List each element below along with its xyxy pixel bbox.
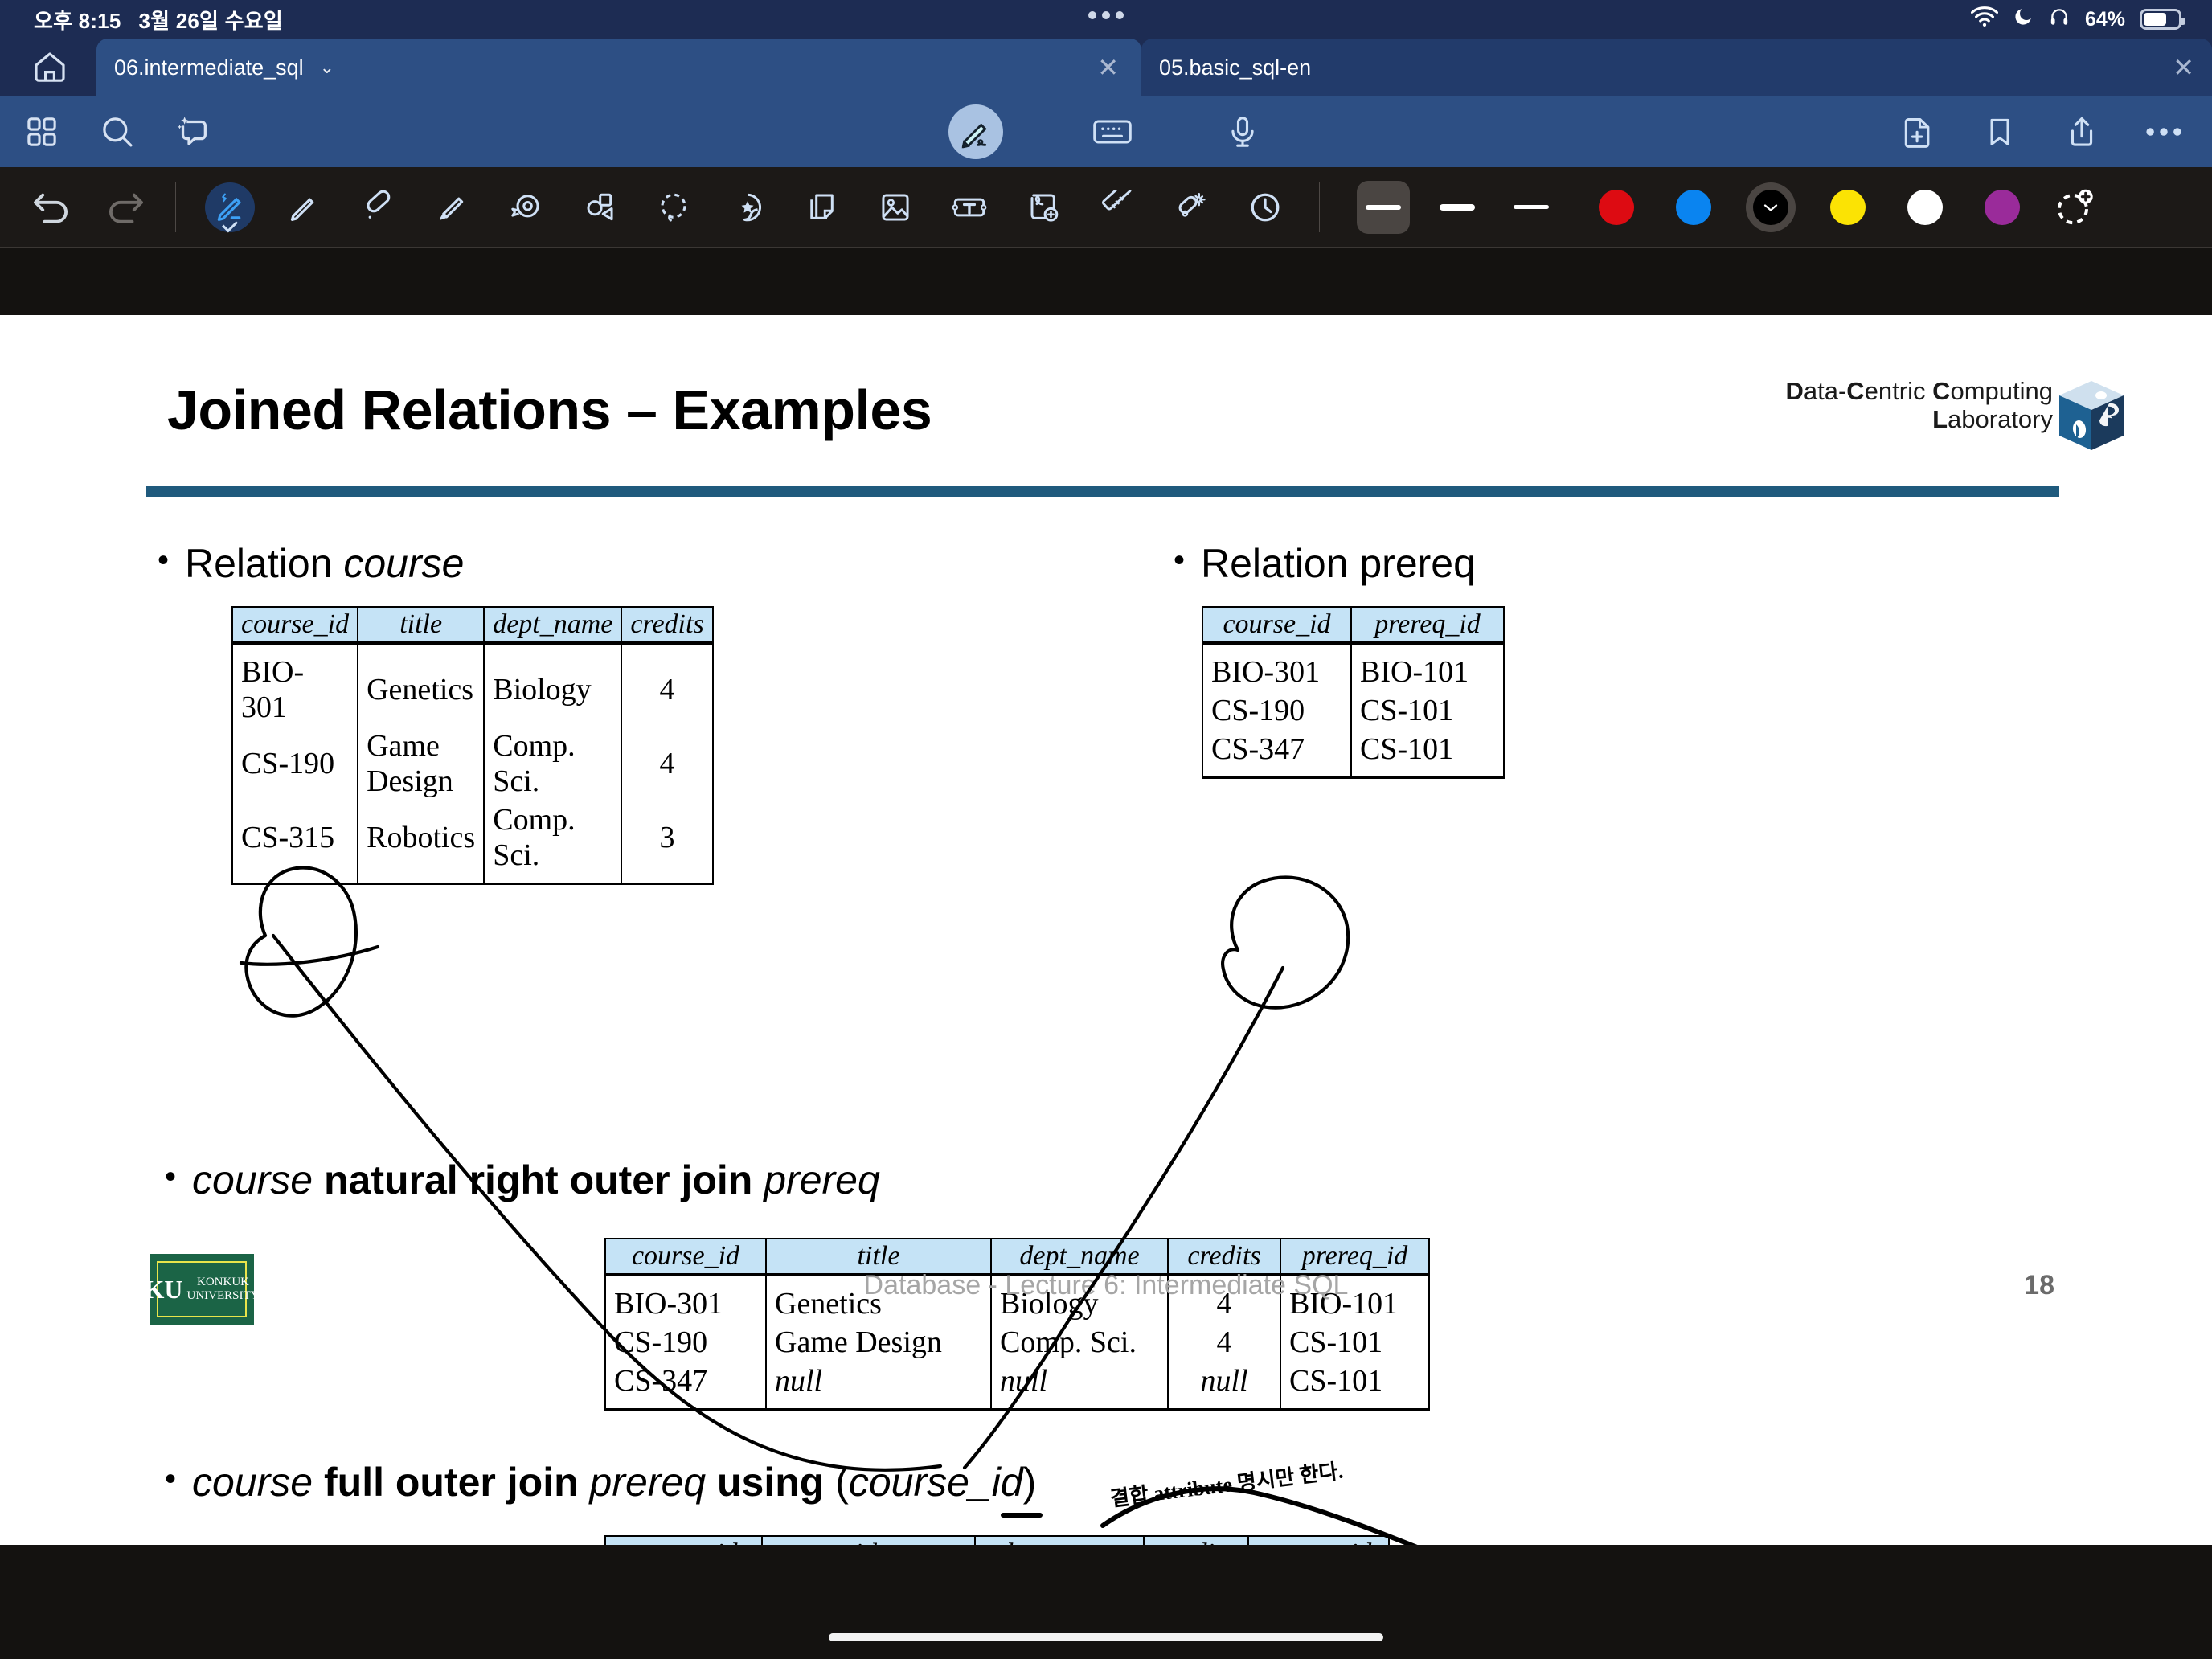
- history-group: [31, 186, 146, 228]
- table-header-row: course_id title dept_name credits: [232, 607, 713, 643]
- bullet-full-outer-join: • course full outer join prereq using (c…: [165, 1459, 1036, 1505]
- tape-icon[interactable]: [501, 182, 551, 232]
- tool-group: [205, 182, 1290, 232]
- color-swatch: [1599, 190, 1634, 225]
- handwritten-annotation: 결합 attribute 명시만 한다.: [1108, 1454, 1345, 1512]
- handle-dot: [1088, 11, 1096, 19]
- color-blue-button[interactable]: [1669, 182, 1718, 232]
- bullet-text: Relation prereq: [1201, 540, 1476, 587]
- more-icon[interactable]: [2143, 111, 2185, 153]
- color-palette: [1591, 182, 2095, 232]
- cell-course-id: CS-347: [605, 1362, 766, 1410]
- color-swatch: [1985, 190, 2020, 225]
- width-thick-button[interactable]: [1505, 181, 1558, 234]
- wifi-icon: [1971, 6, 1998, 33]
- th-credits: credits: [621, 607, 712, 643]
- bullet-text: course natural right outer join prereq: [192, 1157, 880, 1203]
- width-preview: [1514, 205, 1549, 209]
- highlighter-icon[interactable]: [427, 182, 477, 232]
- status-time: 오후 8:15: [34, 5, 121, 35]
- bullet-relation-prereq: • Relation prereq: [1174, 540, 1476, 587]
- cell-credits: 3: [621, 801, 712, 884]
- table-row: CS-190 Game Design Comp. Sci. 4: [232, 727, 713, 801]
- cell-credits: 4: [621, 727, 712, 801]
- cell-course-id: BIO-301: [1202, 643, 1351, 691]
- share-icon[interactable]: [2061, 111, 2103, 153]
- th-dept-name: dept_name: [975, 1536, 1144, 1545]
- close-icon[interactable]: ✕: [2173, 52, 2194, 83]
- cell-course-id: CS-190: [1202, 691, 1351, 730]
- slide-page-number: 18: [2024, 1270, 2054, 1301]
- grid-icon[interactable]: [21, 111, 63, 153]
- color-black-button[interactable]: [1746, 182, 1796, 232]
- battery-percent: 64%: [2085, 8, 2125, 31]
- status-left-group: 오후 8:15 3월 26일 수요일: [34, 5, 283, 35]
- snapshot-icon[interactable]: [1018, 182, 1068, 232]
- cell-credits: null: [1168, 1362, 1280, 1410]
- cell-prereq-id: CS-101: [1351, 730, 1504, 778]
- text-box-icon[interactable]: [944, 182, 994, 232]
- bookmark-icon[interactable]: [1979, 111, 2021, 153]
- lab-logo-text: Data-Centric Computing Laboratory: [1785, 378, 2053, 433]
- fountain-pen-icon[interactable]: [205, 182, 255, 232]
- battery-nub: [2181, 18, 2185, 25]
- redo-icon[interactable]: [104, 186, 146, 228]
- tab-bar: 06.intermediate_sql ⌄ ✕ 05.basic_sql-en …: [0, 39, 2212, 96]
- color-red-button[interactable]: [1591, 182, 1641, 232]
- cell-course-id: BIO-301: [232, 643, 358, 727]
- table-body: BIO-301 Genetics Biology 4 CS-190 Game D…: [232, 643, 713, 884]
- bullet-natural-right-outer-join: • course natural right outer join prereq: [165, 1157, 880, 1203]
- cell-prereq-id: CS-101: [1280, 1323, 1429, 1362]
- bullet-relation-course: • Relation course: [158, 540, 464, 587]
- th-dept-name: dept_name: [484, 607, 621, 643]
- th-prereq-id: prereq_id: [1351, 607, 1504, 643]
- cell-title: Genetics: [358, 643, 484, 727]
- tab-label: 05.basic_sql-en: [1159, 55, 1311, 80]
- lasso-select-icon[interactable]: [649, 182, 698, 232]
- close-icon[interactable]: ✕: [1097, 52, 1119, 83]
- bullet-dot: •: [158, 540, 169, 580]
- cell-course-id: CS-190: [232, 727, 358, 801]
- eraser-icon[interactable]: [353, 182, 403, 232]
- image-icon[interactable]: [870, 182, 920, 232]
- title-divider: [146, 486, 2059, 497]
- cell-course-id: CS-347: [1202, 730, 1351, 778]
- bullet-text: Relation course: [185, 540, 464, 587]
- battery-level: [2144, 13, 2166, 26]
- color-purple-button[interactable]: [1977, 182, 2027, 232]
- cell-credits: 4: [621, 643, 712, 727]
- color-swatch: [1830, 190, 1866, 225]
- bullet-text: course full outer join prereq using (cou…: [192, 1459, 1036, 1505]
- table-full-outer-join: course_id title dept_name credits prereq…: [604, 1535, 1390, 1545]
- tab-06-intermediate-sql[interactable]: 06.intermediate_sql ⌄ ✕: [96, 39, 1141, 96]
- table-row: CS-315 Robotics Comp. Sci. 3: [232, 801, 713, 884]
- pen-mode-icon[interactable]: [948, 104, 1003, 159]
- cell-dept-name: Comp. Sci.: [991, 1323, 1168, 1362]
- th-title: title: [762, 1536, 975, 1545]
- konkuk-university-logo: KU KONKUK UNIVERSITY: [150, 1254, 254, 1325]
- note-icon[interactable]: [797, 182, 846, 232]
- keyboard-icon[interactable]: [1092, 111, 1133, 153]
- th-course-id: course_id: [605, 1536, 762, 1545]
- th-course-id: course_id: [1202, 607, 1351, 643]
- th-prereq-id: prereq_id: [1248, 1536, 1389, 1545]
- lab-logo-line1: Data-Centric Computing: [1785, 378, 2053, 406]
- width-thin-button[interactable]: [1357, 181, 1410, 234]
- toolbar-divider-2: [1319, 182, 1320, 232]
- bullet-dot: •: [1174, 540, 1185, 580]
- th-credits: credits: [1144, 1536, 1248, 1545]
- cell-course-id: CS-190: [605, 1323, 766, 1362]
- cell-dept-name: Comp. Sci.: [484, 801, 621, 884]
- app-toolbar-left: [21, 111, 214, 153]
- battery-icon: [2140, 9, 2181, 30]
- recent-icon[interactable]: [1240, 182, 1290, 232]
- cell-title: Robotics: [358, 801, 484, 884]
- table-row: CS-347 null null null CS-101: [605, 1362, 1429, 1410]
- app-toolbar-center: [948, 104, 1264, 159]
- cell-dept-name: Biology: [484, 643, 621, 727]
- dcc-cube-logo-icon: [2051, 379, 2132, 453]
- color-yellow-button[interactable]: [1823, 182, 1873, 232]
- canvas-bottom-band: [0, 1545, 2212, 1659]
- cell-dept-name: Comp. Sci.: [484, 727, 621, 801]
- ku-line1: KONKUK: [197, 1276, 249, 1288]
- table-course: course_id title dept_name credits BIO-30…: [231, 606, 714, 885]
- table-prereq: course_id prereq_id BIO-301 BIO-101 CS-1…: [1202, 606, 1505, 779]
- ku-abbrev: KU: [145, 1276, 183, 1302]
- magic-eraser-icon[interactable]: [1166, 182, 1216, 232]
- cell-dept-name: null: [991, 1362, 1168, 1410]
- width-preview: [1440, 204, 1475, 211]
- color-swatch: [1753, 190, 1788, 225]
- ku-name: KONKUK UNIVERSITY: [187, 1276, 260, 1303]
- moon-icon: [2013, 6, 2034, 33]
- ku-logo-inner: KU KONKUK UNIVERSITY: [157, 1261, 247, 1317]
- color-swatch: [1676, 190, 1711, 225]
- page-title: Joined Relations – Examples: [167, 378, 932, 442]
- ruler-icon[interactable]: [1092, 182, 1142, 232]
- status-right-group: 64%: [1971, 6, 2181, 33]
- th-course-id: course_id: [605, 1239, 766, 1275]
- table-row: BIO-301 Genetics Biology 4: [232, 643, 713, 727]
- cell-title: Game Design: [766, 1323, 991, 1362]
- tab-label: 06.intermediate_sql: [114, 55, 304, 80]
- tab-05-basic-sql-en[interactable]: 05.basic_sql-en ✕: [1141, 39, 2212, 96]
- table-row: CS-347 CS-101: [1202, 730, 1504, 778]
- headphones-icon: [2048, 6, 2071, 33]
- cell-course-id: BIO-301: [605, 1275, 766, 1323]
- color-white-button[interactable]: [1900, 182, 1950, 232]
- drawing-toolbar: [0, 167, 2212, 248]
- cell-credits: 4: [1168, 1323, 1280, 1362]
- ku-line2: UNIVERSITY: [187, 1289, 260, 1302]
- home-icon[interactable]: [31, 48, 69, 87]
- add-page-icon[interactable]: [1897, 111, 1939, 153]
- lasso-sparkle-icon[interactable]: [172, 111, 214, 153]
- cell-course-id: CS-315: [232, 801, 358, 884]
- cell-title: null: [766, 1362, 991, 1410]
- cell-prereq-id: CS-101: [1280, 1362, 1429, 1410]
- bullet-dot: •: [165, 1157, 176, 1197]
- bullet-dot: •: [165, 1459, 176, 1499]
- stroke-width-group: [1357, 181, 1558, 234]
- table-row: CS-190 Game Design Comp. Sci. 4 CS-101: [605, 1323, 1429, 1362]
- slide-footer: Database - Lecture 6: Intermediate SQL: [864, 1270, 1349, 1301]
- microphone-icon[interactable]: [1222, 111, 1264, 153]
- cell-prereq-id: BIO-101: [1351, 643, 1504, 691]
- color-swatch: [1907, 190, 1943, 225]
- cell-title: Game Design: [358, 727, 484, 801]
- multitask-handle[interactable]: [1088, 11, 1124, 19]
- canvas-top-band: [0, 248, 2212, 315]
- system-status-bar: 오후 8:15 3월 26일 수요일: [0, 0, 2212, 39]
- handle-dot: [1116, 11, 1124, 19]
- tablet-app-window: 오후 8:15 3월 26일 수요일: [0, 0, 2212, 1659]
- table-header-row: course_id prereq_id: [1202, 607, 1504, 643]
- search-icon[interactable]: [96, 111, 138, 153]
- width-preview: [1366, 205, 1401, 210]
- status-date: 3월 26일 수요일: [139, 5, 283, 35]
- lab-logo-line2: Laboratory: [1785, 406, 2053, 434]
- app-toolbar-right: [1897, 111, 2185, 153]
- slide-canvas[interactable]: Joined Relations – Examples Data-Centric…: [0, 315, 2212, 1545]
- table-natural-right-outer-join: course_id title dept_name credits prereq…: [604, 1238, 1430, 1411]
- table-body: BIO-301 BIO-101 CS-190 CS-101 CS-347 CS-…: [1202, 643, 1504, 778]
- cell-prereq-id: CS-101: [1351, 691, 1504, 730]
- add-color-icon[interactable]: [2054, 187, 2095, 227]
- th-course-id: course_id: [232, 607, 358, 643]
- handle-dot: [1102, 11, 1110, 19]
- app-toolbar: [0, 96, 2212, 167]
- pencil-icon[interactable]: [279, 182, 329, 232]
- table-row: CS-190 CS-101: [1202, 691, 1504, 730]
- width-medium-button[interactable]: [1431, 181, 1484, 234]
- home-indicator[interactable]: [829, 1633, 1383, 1641]
- toolbar-divider: [175, 182, 176, 232]
- sticker-icon[interactable]: [723, 182, 772, 232]
- table-header-row: course_id title dept_name credits prereq…: [605, 1536, 1389, 1545]
- th-title: title: [358, 607, 484, 643]
- undo-icon[interactable]: [31, 186, 72, 228]
- chevron-down-icon[interactable]: ⌄: [320, 57, 334, 78]
- table-row: BIO-301 BIO-101: [1202, 643, 1504, 691]
- shapes-icon[interactable]: [575, 182, 625, 232]
